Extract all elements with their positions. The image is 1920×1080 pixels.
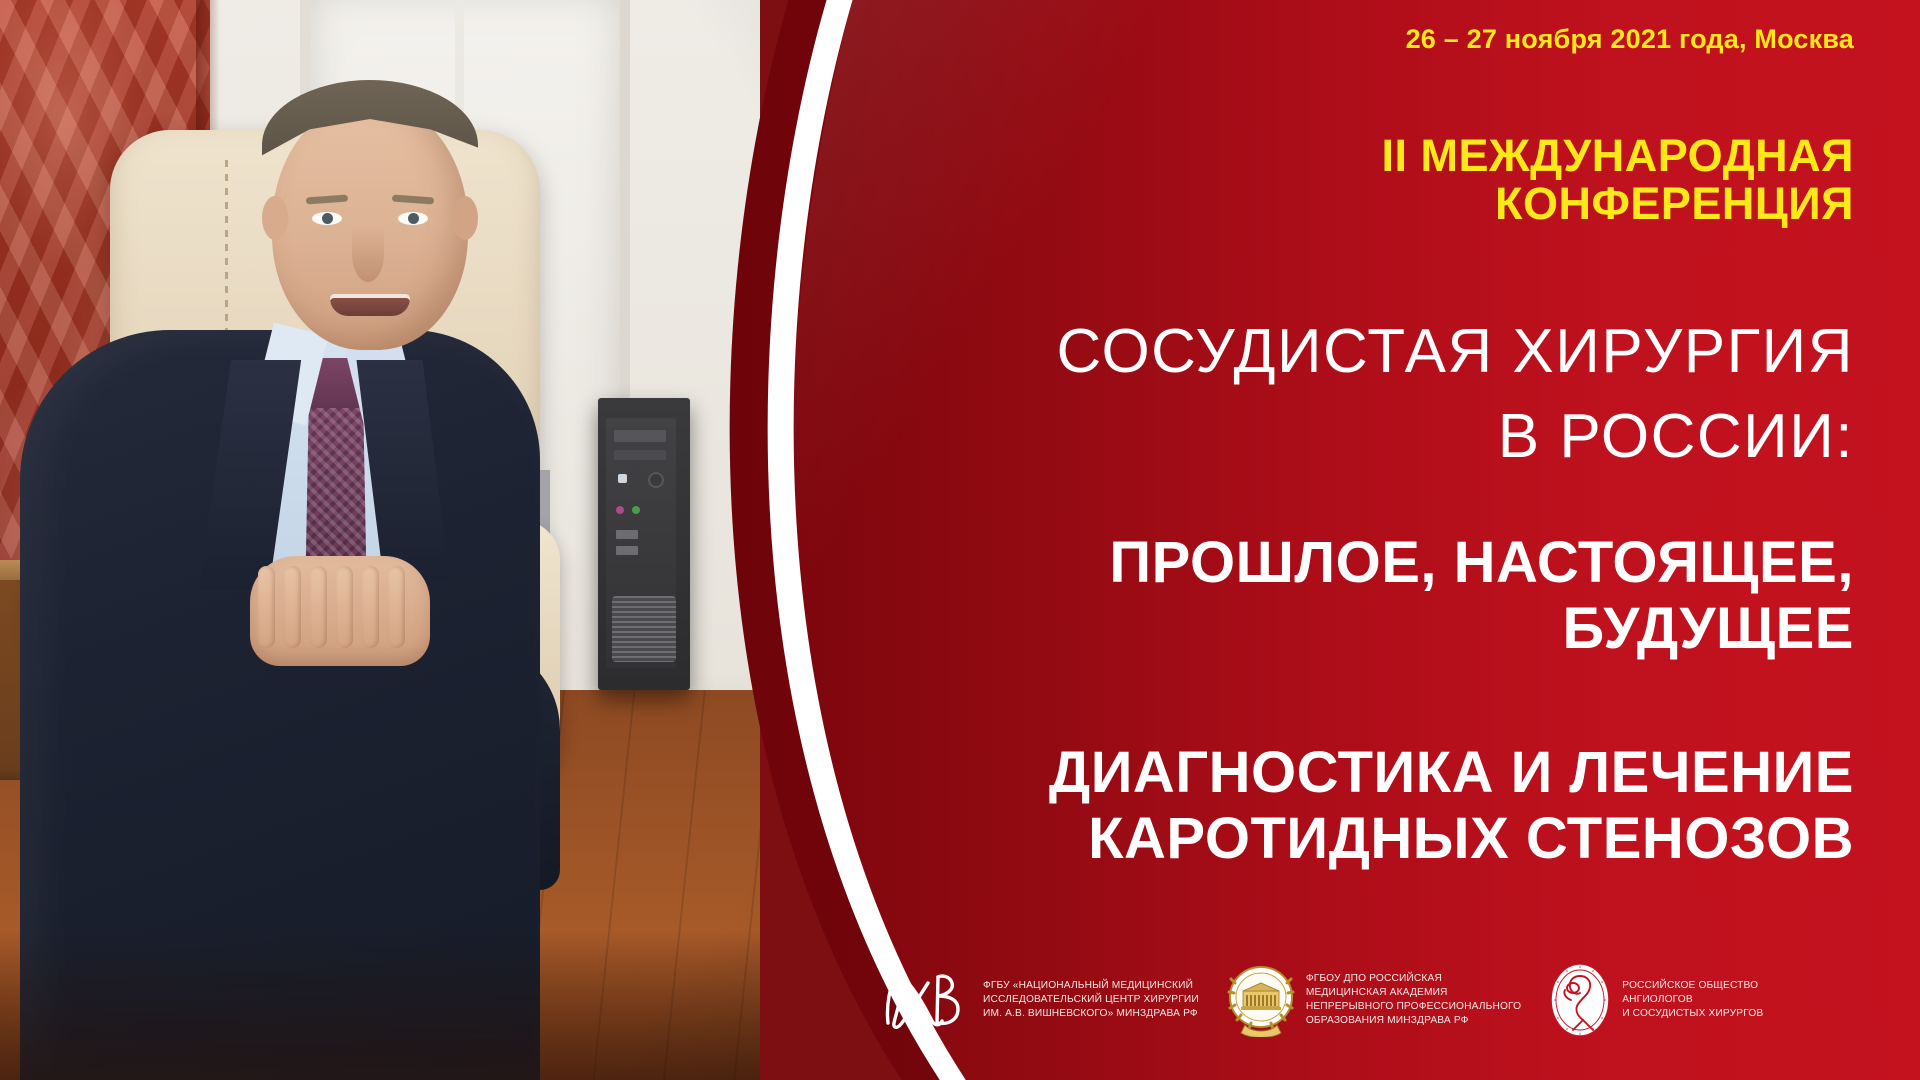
logo-line: ОБРАЗОВАНИЯ МИНЗДРАВА РФ: [1306, 1014, 1521, 1028]
conference-kicker-line1: II МЕЖДУНАРОДНАЯ: [1234, 132, 1854, 180]
logo-vishnevsky-text: ФГБУ «НАЦИОНАЛЬНЫЙ МЕДИЦИНСКИЙ ИССЛЕДОВА…: [983, 979, 1199, 1021]
topic-line1: ДИАГНОСТИКА И ЛЕЧЕНИЕ: [754, 740, 1854, 806]
logo-rmanpo: ФГБОУ ДПО РОССИЙСКАЯ МЕДИЦИНСКАЯ АКАДЕМИ…: [1227, 963, 1521, 1037]
topic-line2: КАРОТИДНЫХ СТЕНОЗОВ: [754, 806, 1854, 872]
subtitle-line2: БУДУЩЕЕ: [804, 596, 1854, 662]
logo-angiologists-text: РОССИЙСКОЕ ОБЩЕСТВО АНГИОЛОГОВ И СОСУДИС…: [1622, 979, 1763, 1021]
logo-line: ИМ. А.В. ВИШНЕВСКОГО» МИНЗДРАВА РФ: [983, 1007, 1199, 1021]
subtitle-block: ПРОШЛОЕ, НАСТОЯЩЕЕ, БУДУЩЕЕ: [804, 530, 1854, 662]
main-title-line1: СОСУДИСТАЯ ХИРУРГИЯ: [854, 315, 1854, 388]
logo-line: И СОСУДИСТЫХ ХИРУРГОВ: [1622, 1007, 1763, 1021]
logo-angiologists: РОССИЙСКОЕ ОБЩЕСТВО АНГИОЛОГОВ И СОСУДИС…: [1549, 962, 1763, 1038]
organizer-logos: ФГБУ «НАЦИОНАЛЬНЫЙ МЕДИЦИНСКИЙ ИССЛЕДОВА…: [880, 945, 1880, 1055]
logo-line: АНГИОЛОГОВ: [1622, 993, 1763, 1007]
subtitle-line1: ПРОШЛОЕ, НАСТОЯЩЕЕ,: [804, 530, 1854, 596]
banner-text-content: 26 – 27 ноября 2021 года, Москва II МЕЖД…: [820, 0, 1920, 1080]
logo-line: ФГБОУ ДПО РОССИЙСКАЯ: [1306, 972, 1521, 986]
rmanpo-seal-icon: [1227, 963, 1295, 1037]
vishnevsky-monogram-icon: [880, 965, 972, 1035]
logo-rmanpo-text: ФГБОУ ДПО РОССИЙСКАЯ МЕДИЦИНСКАЯ АКАДЕМИ…: [1306, 972, 1521, 1028]
logo-line: НЕПРЕРЫВНОГО ПРОФЕССИОНАЛЬНОГО: [1306, 1000, 1521, 1014]
logo-line: МЕДИЦИНСКАЯ АКАДЕМИЯ: [1306, 986, 1521, 1000]
logo-line: ИССЛЕДОВАТЕЛЬСКИЙ ЦЕНТР ХИРУРГИИ: [983, 993, 1199, 1007]
topic-block: ДИАГНОСТИКА И ЛЕЧЕНИЕ КАРОТИДНЫХ СТЕНОЗО…: [754, 740, 1854, 872]
conference-banner: 26 – 27 ноября 2021 года, Москва II МЕЖД…: [0, 0, 1920, 1080]
conference-kicker: II МЕЖДУНАРОДНАЯ КОНФЕРЕНЦИЯ: [1234, 132, 1854, 227]
logo-line: РОССИЙСКОЕ ОБЩЕСТВО: [1622, 979, 1763, 993]
main-title-line2: В РОССИИ:: [854, 400, 1854, 473]
angiologists-emblem-icon: [1549, 962, 1611, 1038]
event-date: 26 – 27 ноября 2021 года, Москва: [1406, 24, 1854, 55]
logo-vishnevsky: ФГБУ «НАЦИОНАЛЬНЫЙ МЕДИЦИНСКИЙ ИССЛЕДОВА…: [880, 965, 1199, 1035]
conference-kicker-line2: КОНФЕРЕНЦИЯ: [1234, 180, 1854, 228]
logo-line: ФГБУ «НАЦИОНАЛЬНЫЙ МЕДИЦИНСКИЙ: [983, 979, 1199, 993]
